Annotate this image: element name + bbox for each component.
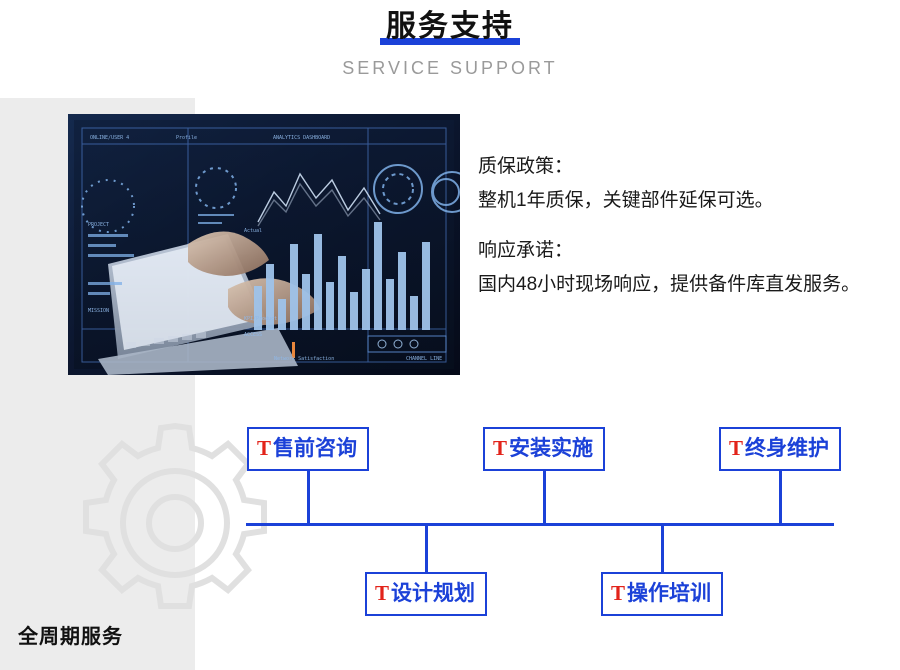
node-label: 售前咨询 (273, 437, 357, 460)
node-mark-icon: T (493, 436, 507, 460)
svg-text:Profile: Profile (176, 135, 197, 141)
response-body: 国内48小时现场响应，提供备件库直发服务。 (478, 268, 878, 302)
diagram-connector-bottom-2 (661, 523, 664, 572)
diagram-node-installation[interactable]: T安装实施 (483, 427, 605, 471)
page-subtitle: SERVICE SUPPORT (0, 58, 900, 79)
svg-text:Network Satisfaction: Network Satisfaction (274, 356, 334, 362)
svg-text:Actual: Actual (244, 228, 262, 234)
page-title-wrapper: 服务支持 (380, 8, 520, 46)
node-label: 设计规划 (391, 582, 475, 605)
diagram-spine (246, 523, 834, 526)
svg-text:PROJECT: PROJECT (88, 222, 109, 228)
svg-text:CHANNEL LINE: CHANNEL LINE (406, 356, 442, 362)
warranty-heading: 质保政策： (478, 150, 878, 184)
node-mark-icon: T (375, 581, 389, 605)
diagram-node-presales[interactable]: T售前咨询 (247, 427, 369, 471)
svg-text:ANALYTICS DASHBOARD: ANALYTICS DASHBOARD (273, 135, 330, 141)
diagram-node-design-planning[interactable]: T设计规划 (365, 572, 487, 616)
node-mark-icon: T (257, 436, 271, 460)
svg-text:ACCESS: ACCESS (244, 332, 262, 338)
diagram-node-lifetime-maintenance[interactable]: T终身维护 (719, 427, 841, 471)
warranty-body: 整机1年质保，关键部件延保可选。 (478, 184, 878, 218)
node-label: 终身维护 (745, 437, 829, 460)
service-description: 质保政策： 整机1年质保，关键部件延保可选。 响应承诺： 国内48小时现场响应，… (478, 150, 878, 302)
svg-text:MISSION: MISSION (88, 308, 109, 314)
node-label: 操作培训 (627, 582, 711, 605)
svg-text:ONLINE/USER 4: ONLINE/USER 4 (90, 135, 129, 141)
node-mark-icon: T (611, 581, 625, 605)
diagram-node-operation-training[interactable]: T操作培训 (601, 572, 723, 616)
paragraph-warranty: 质保政策： 整机1年质保，关键部件延保可选。 (478, 150, 878, 218)
node-label: 安装实施 (509, 437, 593, 460)
page-header: 服务支持 SERVICE SUPPORT (0, 0, 900, 79)
footer-label: 全周期服务 (18, 620, 123, 649)
service-lifecycle-diagram: T售前咨询 T安装实施 T终身维护 T设计规划 T操作培训 (0, 400, 900, 640)
diagram-connector-bottom-1 (425, 523, 428, 572)
node-mark-icon: T (729, 436, 743, 460)
paragraph-response: 响应承诺： 国内48小时现场响应，提供备件库直发服务。 (478, 234, 878, 302)
diagram-connector-top-3 (779, 469, 782, 524)
diagram-connector-top-1 (307, 469, 310, 524)
page-title: 服务支持 (386, 8, 514, 46)
hero-image: ONLINE/USER 4 Profile ANALYTICS DASHBOAR… (68, 114, 460, 375)
diagram-connector-top-2 (543, 469, 546, 524)
svg-text:KPI/Product: KPI/Product (244, 316, 277, 322)
response-heading: 响应承诺： (478, 234, 878, 268)
